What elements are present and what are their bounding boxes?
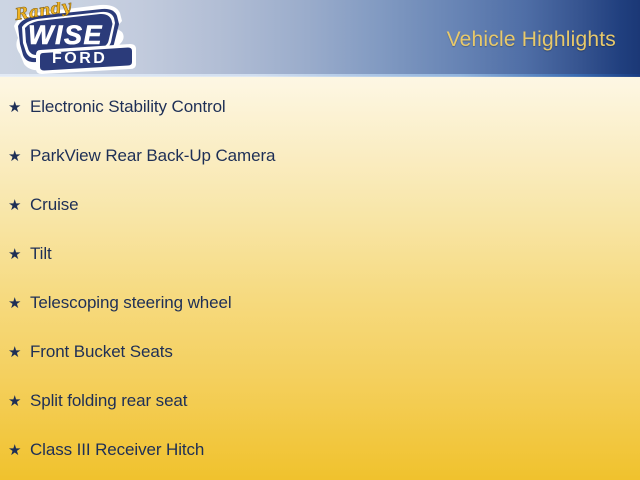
highlight-label: Tilt: [30, 243, 52, 265]
vehicle-highlights-page: WISE FORD Randy Vehicle Highlights ★ Ele…: [0, 0, 640, 480]
highlight-label: Class III Receiver Hitch: [30, 439, 204, 461]
highlight-label: Electronic Stability Control: [30, 96, 226, 118]
star-bullet-icon: ★: [8, 195, 30, 217]
highlight-label: Split folding rear seat: [30, 390, 187, 412]
vehicle-highlights-list: ★ Electronic Stability Control ★ ParkVie…: [0, 76, 640, 480]
list-item: ★ Telescoping steering wheel: [8, 292, 232, 316]
star-bullet-icon: ★: [8, 244, 30, 266]
star-bullet-icon: ★: [8, 391, 30, 413]
highlight-label: Telescoping steering wheel: [30, 292, 232, 314]
star-bullet-icon: ★: [8, 342, 30, 364]
list-item: ★ Tilt: [8, 243, 52, 267]
list-item: ★ ParkView Rear Back-Up Camera: [8, 145, 275, 169]
highlight-label: Front Bucket Seats: [30, 341, 173, 363]
list-item: ★ Split folding rear seat: [8, 390, 187, 414]
logo-banner-word: FORD: [52, 50, 107, 67]
logo-main-word: WISE: [28, 20, 103, 50]
star-bullet-icon: ★: [8, 146, 30, 168]
randy-wise-ford-logo[interactable]: WISE FORD Randy: [4, 2, 144, 76]
list-item: ★ Class III Receiver Hitch: [8, 439, 204, 463]
highlight-label: ParkView Rear Back-Up Camera: [30, 145, 275, 167]
list-item: ★ Electronic Stability Control: [8, 96, 226, 120]
page-header: WISE FORD Randy Vehicle Highlights: [0, 0, 640, 76]
list-item: ★ Front Bucket Seats: [8, 341, 173, 365]
star-bullet-icon: ★: [8, 97, 30, 119]
star-bullet-icon: ★: [8, 293, 30, 315]
highlight-label: Cruise: [30, 194, 79, 216]
page-title: Vehicle Highlights: [447, 28, 616, 52]
list-item: ★ Cruise: [8, 194, 79, 218]
star-bullet-icon: ★: [8, 440, 30, 462]
